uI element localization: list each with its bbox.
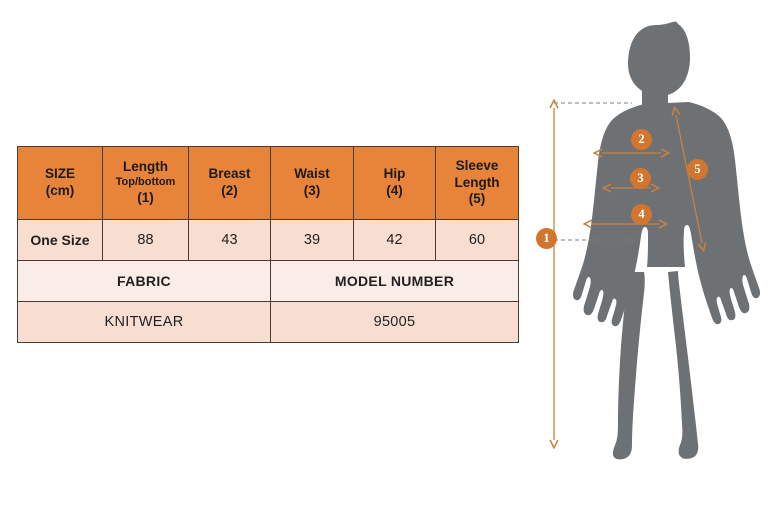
header-main-label: Breast <box>189 166 270 183</box>
measure-badge-5: 5 <box>687 159 708 180</box>
measure-badge-3: 3 <box>630 168 651 189</box>
table-row: KNITWEAR 95005 <box>18 302 519 343</box>
measure-badge-4: 4 <box>631 204 652 225</box>
measure-badge-1: 1 <box>536 228 557 249</box>
table-subheader-row: FABRIC MODEL NUMBER <box>18 261 519 302</box>
header-index-label: (1) <box>103 190 188 207</box>
table-row: One Size 88 43 39 42 60 <box>18 220 519 261</box>
header-sub-label: Top/bottom <box>103 176 188 190</box>
header-cell-hip: Hip (4) <box>354 147 436 220</box>
header-cell-size: SIZE (cm) <box>18 147 103 220</box>
header-cell-length: Length Top/bottom (1) <box>103 147 189 220</box>
measurement-figure: 1 2 3 4 5 <box>520 0 775 514</box>
header-main-label: Sleeve <box>436 158 518 175</box>
header-sub-label: Length <box>436 175 518 192</box>
table-header-row: SIZE (cm) Length Top/bottom (1) Breast (… <box>18 147 519 220</box>
cell-breast: 43 <box>189 220 271 261</box>
size-chart-table: SIZE (cm) Length Top/bottom (1) Breast (… <box>17 146 519 343</box>
cell-hip: 42 <box>354 220 436 261</box>
cell-length: 88 <box>103 220 189 261</box>
cell-fabric-value: KNITWEAR <box>18 302 271 343</box>
cell-size-label: One Size <box>18 220 103 261</box>
header-cell-breast: Breast (2) <box>189 147 271 220</box>
header-index-label: (2) <box>189 183 270 200</box>
header-index-label: (4) <box>354 183 435 200</box>
cell-waist: 39 <box>271 220 354 261</box>
header-cell-sleeve-length: Sleeve Length (5) <box>436 147 519 220</box>
header-cell-fabric: FABRIC <box>18 261 271 302</box>
mannequin-silhouette-svg <box>520 0 775 514</box>
cell-model-number-value: 95005 <box>271 302 519 343</box>
header-cell-waist: Waist (3) <box>271 147 354 220</box>
header-index-label: (5) <box>436 191 518 208</box>
measure-badge-2: 2 <box>631 129 652 150</box>
header-main-label: Hip <box>354 166 435 183</box>
header-index-label: (3) <box>271 183 353 200</box>
header-unit-label: (cm) <box>18 183 102 200</box>
header-main-label: Length <box>103 159 188 176</box>
cell-sleeve: 60 <box>436 220 519 261</box>
header-main-label: SIZE <box>18 166 102 183</box>
header-main-label: Waist <box>271 166 353 183</box>
female-silhouette-icon <box>573 22 760 460</box>
header-cell-model-number: MODEL NUMBER <box>271 261 519 302</box>
